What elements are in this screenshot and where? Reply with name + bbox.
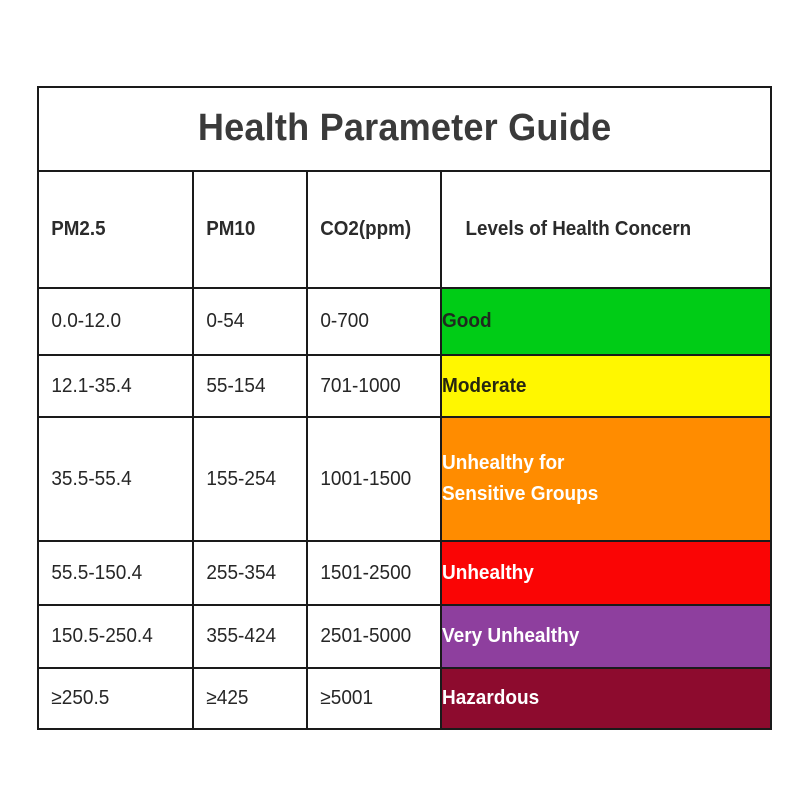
column-header-pm10: PM10	[193, 171, 307, 288]
table-row: 55.5-150.4 255-354 1501-2500 Unhealthy	[38, 541, 771, 605]
health-parameter-guide: Health Parameter Guide PM2.5 PM10 CO2(pp…	[37, 86, 770, 713]
cell-co2: ≥5001	[307, 668, 441, 729]
cell-co2: 1501-2500	[307, 541, 441, 605]
column-header-label: Levels of Health Concern	[442, 218, 750, 241]
cell-value: 355-424	[194, 625, 300, 648]
cell-value: 12.1-35.4	[39, 375, 184, 398]
column-header-levels-of-health-concern: Levels of Health Concern	[441, 171, 771, 288]
status-badge-label-line2: Sensitive Groups	[442, 479, 754, 510]
health-parameter-table: Health Parameter Guide PM2.5 PM10 CO2(pp…	[37, 86, 772, 730]
status-badge: Good	[441, 288, 771, 355]
status-badge-label: Unhealthy	[442, 558, 754, 589]
status-badge-label: Hazardous	[442, 683, 754, 714]
column-header-pm25: PM2.5	[38, 171, 193, 288]
status-badge-label: Unhealthy for	[442, 448, 754, 479]
status-badge-label: Very Unhealthy	[442, 621, 754, 652]
cell-pm10: ≥425	[193, 668, 307, 729]
cell-value: 0.0-12.0	[39, 310, 184, 333]
cell-pm25: 55.5-150.4	[38, 541, 193, 605]
cell-pm25: ≥250.5	[38, 668, 193, 729]
cell-co2: 0-700	[307, 288, 441, 355]
cell-value: 1001-1500	[308, 468, 433, 491]
status-badge: Moderate	[441, 355, 771, 417]
status-badge-label: Moderate	[442, 371, 754, 402]
status-badge: Hazardous	[441, 668, 771, 729]
status-badge: Unhealthy for Sensitive Groups	[441, 417, 771, 541]
cell-value: 35.5-55.4	[39, 468, 184, 491]
cell-value: 155-254	[194, 468, 300, 491]
table-row: 150.5-250.4 355-424 2501-5000 Very Unhea…	[38, 605, 771, 668]
column-header-co2: CO2(ppm)	[307, 171, 441, 288]
column-header-label: CO2(ppm)	[308, 218, 432, 241]
cell-value: 701-1000	[308, 375, 433, 398]
status-badge: Very Unhealthy	[441, 605, 771, 668]
cell-pm10: 55-154	[193, 355, 307, 417]
status-badge: Unhealthy	[441, 541, 771, 605]
cell-value: 0-700	[308, 310, 433, 333]
cell-pm10: 255-354	[193, 541, 307, 605]
cell-value: ≥250.5	[39, 687, 184, 710]
table-header-row: PM2.5 PM10 CO2(ppm) Levels of Health Con…	[38, 171, 771, 288]
cell-co2: 701-1000	[307, 355, 441, 417]
cell-value: 2501-5000	[308, 625, 433, 648]
column-header-label: PM10	[194, 218, 299, 241]
page-title: Health Parameter Guide	[198, 109, 611, 149]
status-badge-label: Good	[442, 306, 754, 337]
cell-value: 1501-2500	[308, 562, 433, 585]
cell-pm10: 155-254	[193, 417, 307, 541]
cell-value: 55.5-150.4	[39, 562, 184, 585]
cell-value: 255-354	[194, 562, 300, 585]
cell-pm25: 12.1-35.4	[38, 355, 193, 417]
cell-co2: 2501-5000	[307, 605, 441, 668]
cell-pm10: 355-424	[193, 605, 307, 668]
page-title-cell: Health Parameter Guide	[38, 87, 771, 171]
cell-value: 0-54	[194, 310, 300, 333]
table-row: 12.1-35.4 55-154 701-1000 Moderate	[38, 355, 771, 417]
cell-pm10: 0-54	[193, 288, 307, 355]
cell-pm25: 35.5-55.4	[38, 417, 193, 541]
cell-pm25: 150.5-250.4	[38, 605, 193, 668]
cell-value: 55-154	[194, 375, 300, 398]
cell-value: ≥425	[194, 687, 300, 710]
cell-value: ≥5001	[308, 687, 433, 710]
table-row: ≥250.5 ≥425 ≥5001 Hazardous	[38, 668, 771, 729]
cell-pm25: 0.0-12.0	[38, 288, 193, 355]
table-title-row: Health Parameter Guide	[38, 87, 771, 171]
column-header-label: PM2.5	[39, 218, 183, 241]
table-row: 0.0-12.0 0-54 0-700 Good	[38, 288, 771, 355]
table-row: 35.5-55.4 155-254 1001-1500 Unhealthy fo…	[38, 417, 771, 541]
cell-value: 150.5-250.4	[39, 625, 184, 648]
cell-co2: 1001-1500	[307, 417, 441, 541]
